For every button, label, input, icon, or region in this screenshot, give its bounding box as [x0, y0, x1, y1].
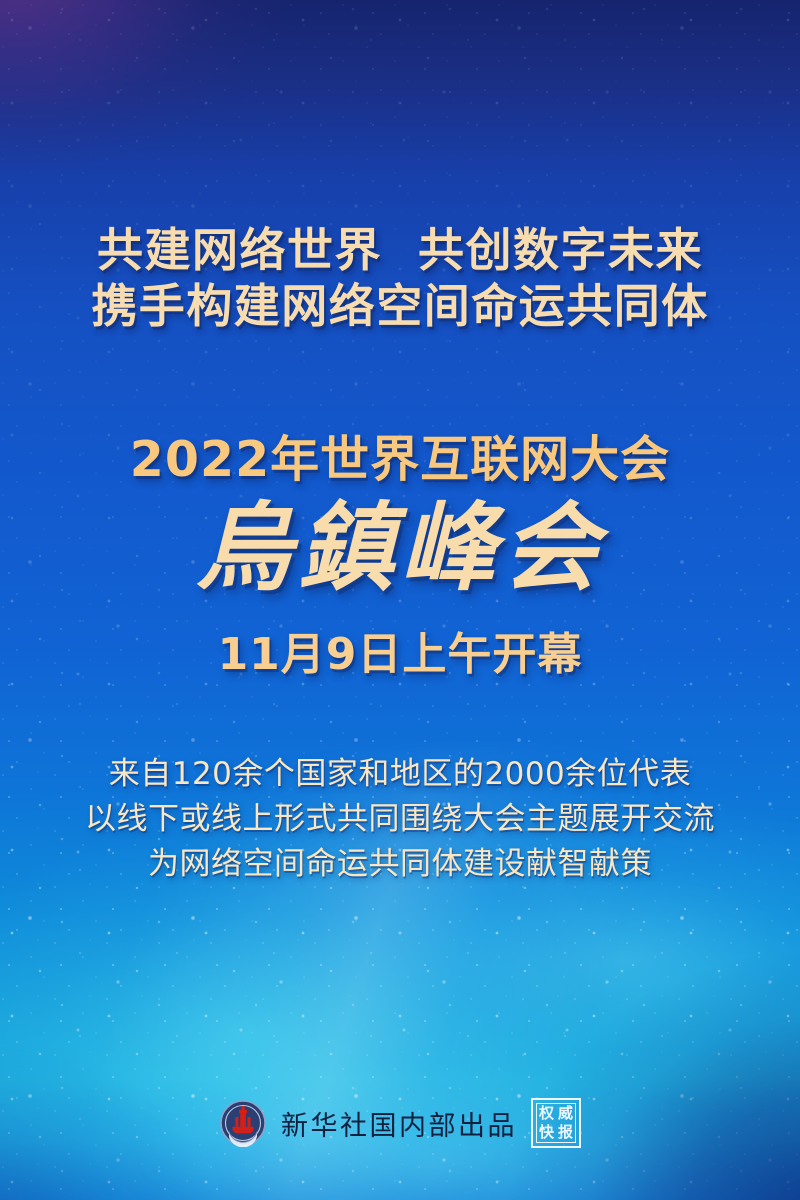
body-line: 以线下或线上形式共同围绕大会主题展开交流: [0, 797, 800, 842]
stamp-char: 报: [558, 1125, 573, 1140]
authority-stamp-grid: 权 威 快 报: [536, 1103, 576, 1143]
poster-canvas: 共建网络世界共创数字未来 携手构建网络空间命运共同体 2022年世界互联网大会 …: [0, 0, 800, 1200]
stamp-char: 威: [558, 1106, 573, 1121]
opening-date: 11月9日上午开幕: [0, 618, 800, 682]
xinhua-emblem-icon: [219, 1099, 267, 1147]
summit-name-calligraphy: 烏鎮峰会: [0, 492, 800, 604]
headline-line-1: 共建网络世界共创数字未来: [0, 222, 800, 278]
headline-block: 共建网络世界共创数字未来 携手构建网络空间命运共同体: [0, 222, 800, 334]
body-line: 为网络空间命运共同体建设献智献策: [0, 842, 800, 887]
producer-credit: 新华社国内部出品: [281, 1104, 517, 1143]
body-line: 来自120余个国家和地区的2000余位代表: [0, 752, 800, 797]
stamp-char: 快: [539, 1125, 554, 1140]
stamp-char: 权: [539, 1106, 554, 1121]
poster-content: 共建网络世界共创数字未来 携手构建网络空间命运共同体 2022年世界互联网大会 …: [0, 0, 800, 1200]
body-paragraph: 来自120余个国家和地区的2000余位代表 以线下或线上形式共同围绕大会主题展开…: [0, 752, 800, 887]
conference-name: 2022年世界互联网大会: [0, 420, 800, 491]
headline-segment-2: 共创数字未来: [418, 223, 703, 277]
footer-bar: 新华社国内部出品 权 威 快 报: [0, 1098, 800, 1148]
headline-segment-1: 共建网络世界: [97, 223, 382, 277]
authority-stamp-icon: 权 威 快 报: [531, 1098, 581, 1148]
headline-line-2: 携手构建网络空间命运共同体: [0, 278, 800, 334]
